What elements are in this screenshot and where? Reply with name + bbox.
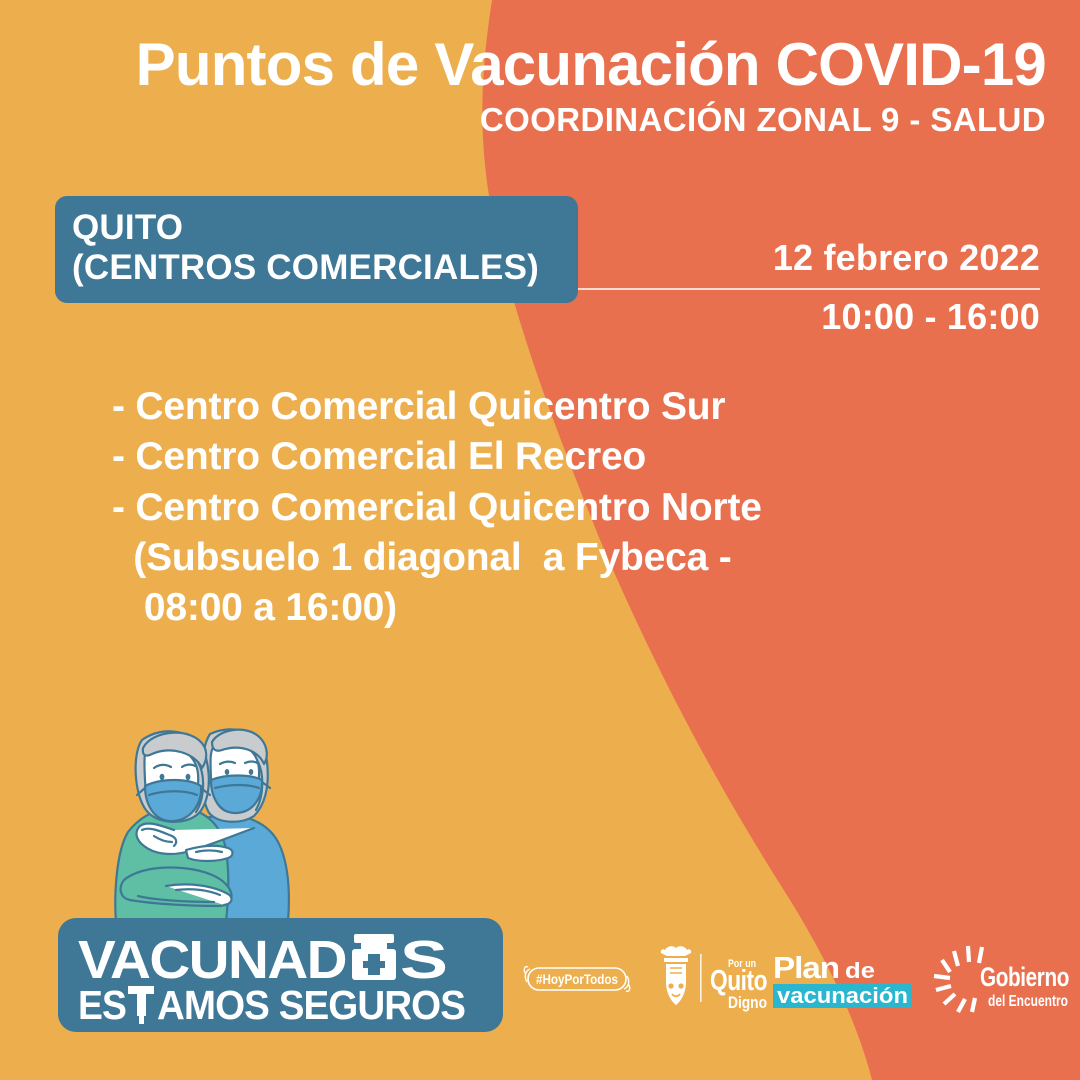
campaign-line2-part1: ES <box>78 982 126 1028</box>
campaign-badge: VACUNAD S ES AMOS SEGURO <box>58 918 503 1032</box>
plan-line1-de: de <box>845 958 875 983</box>
gobierno-line2: del Encuentro <box>988 993 1068 1010</box>
logo-divider <box>700 954 702 1002</box>
sun-rays-icon <box>934 946 982 1012</box>
quito-coat-of-arms-icon <box>661 946 691 1005</box>
campaign-line2-part2: AMOS SEGUROS <box>157 982 465 1028</box>
page-subtitle: COORDINACIÓN ZONAL 9 - SALUD <box>0 103 1046 138</box>
gobierno-line1: Gobierno <box>980 962 1069 992</box>
elderly-couple-illustration <box>58 700 328 940</box>
city-badge-category: (CENTROS COMERCIALES) <box>72 248 578 288</box>
city-badge: QUITO (CENTROS COMERCIALES) <box>55 196 578 303</box>
plan-line1-main: Plan <box>773 950 839 985</box>
schedule-hours: 10:00 - 16:00 <box>570 299 1040 335</box>
syringe-icon <box>128 986 154 1024</box>
header: Puntos de Vacunación COVID-19 COORDINACI… <box>0 34 1046 138</box>
schedule-divider <box>578 288 1040 290</box>
vaccination-poster: Puntos de Vacunación COVID-19 COORDINACI… <box>0 0 1080 1080</box>
page-title: Puntos de Vacunación COVID-19 <box>0 34 1046 95</box>
list-item: - Centro Comercial Quicentro Norte (Subs… <box>112 483 972 634</box>
hoy-por-todos-badge: #HoyPorTodos <box>521 962 633 996</box>
gobierno-del-encuentro-logo: Gobierno del Encuentro <box>928 938 1071 1018</box>
campaign-line1-part1: VACUNAD <box>78 930 346 990</box>
medicine-jar-icon <box>352 934 396 980</box>
vaccination-sites-list: - Centro Comercial Quicentro Sur - Centr… <box>112 382 972 633</box>
schedule-block: 12 febrero 2022 10:00 - 16:00 <box>570 240 1040 335</box>
vacunados-estamos-seguros-logo: VACUNAD S ES AMOS SEGURO <box>58 918 503 1032</box>
list-item: - Centro Comercial Quicentro Sur <box>112 382 972 432</box>
campaign-line1-part2: S <box>400 930 446 990</box>
hoy-por-todos-text: #HoyPorTodos <box>536 971 618 987</box>
quito-digno-logo: Por un Quito Digno <box>650 942 770 1014</box>
plan-line2: vacunación <box>777 983 908 1008</box>
quito-tagline: Digno <box>728 993 767 1012</box>
schedule-date: 12 febrero 2022 <box>570 240 1040 276</box>
list-item: - Centro Comercial El Recreo <box>112 432 972 482</box>
plan-de-vacunacion-logo: Plan de vacunación <box>771 948 918 1010</box>
logo-strip: #HoyPorTodos Por un Quito Digno <box>515 930 1075 1030</box>
city-badge-city: QUITO <box>72 208 578 248</box>
